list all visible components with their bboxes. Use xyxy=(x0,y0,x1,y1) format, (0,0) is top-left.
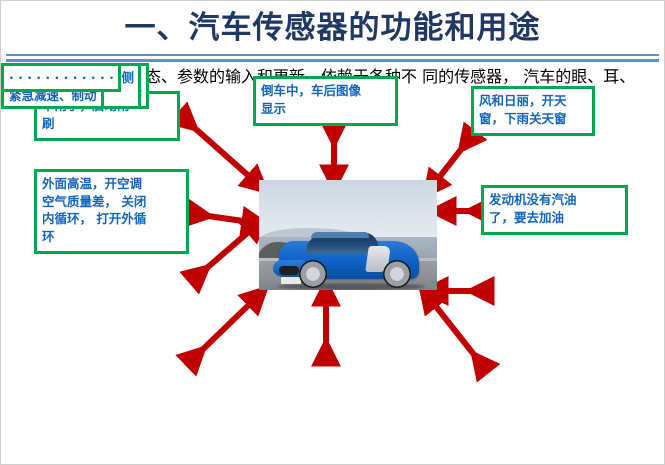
callout-reverse-camera[interactable]: 倒车中，车后图像 显示 xyxy=(253,76,398,126)
callout-fuel-level[interactable]: 发动机没有汽油 了，要去加油 xyxy=(481,185,628,235)
page-title: 一、汽车传感器的功能和用途 xyxy=(1,7,664,49)
arrow-seatbelt xyxy=(201,223,259,273)
callout-air-conditioning[interactable]: 外面高温，开空调 空气质量差， 关闭 内循环， 打开外循 环 xyxy=(34,169,189,254)
arrow-rain xyxy=(189,123,259,185)
callout-line: 倒车中，车后图像 xyxy=(261,82,391,100)
arrow-etc xyxy=(427,295,479,361)
callout-line: 环 xyxy=(42,228,182,246)
slide-title-area: 一、汽车传感器的功能和用途 xyxy=(1,1,664,54)
callout-line: 显示 xyxy=(261,100,391,118)
callout-line: 外面高温，开空调 xyxy=(42,175,182,193)
car-license-plate xyxy=(281,277,301,284)
arrow-brake xyxy=(197,295,259,355)
callout-line: · · · · · · xyxy=(9,70,59,85)
car-photo xyxy=(259,180,437,290)
car-front-wheel xyxy=(299,260,327,288)
arrow-ac xyxy=(201,215,257,223)
callout-sunroof[interactable]: 风和日丽，开天 窗，下雨关天窗 xyxy=(471,86,595,136)
callout-line: 窗，下雨关天窗 xyxy=(479,110,588,128)
title-divider-lower xyxy=(6,59,659,62)
callout-line: · · · · · · xyxy=(64,70,114,85)
callout-line: 风和日丽，开天 xyxy=(479,92,588,110)
callout-line: 刷 xyxy=(42,115,173,133)
car-rear-wheel xyxy=(383,260,411,288)
callout-line: 内循环， 打开外循 xyxy=(42,210,182,228)
callout-etcetera[interactable]: · · · · · · · · · · · · xyxy=(1,63,121,92)
car-grille-left xyxy=(279,266,299,275)
car-roof-highlight xyxy=(311,232,369,238)
callout-line: 发动机没有汽油 xyxy=(489,191,621,209)
slide-canvas: 一、汽车传感器的功能和用途 xyxy=(0,0,665,465)
callout-line: 了，要去加油 xyxy=(489,209,621,227)
diagram-area: 下雨了，启动雨 刷 倒车中，车后图像 显示 风和日丽，开天 窗，下雨关天窗 外面… xyxy=(1,63,664,464)
callout-line: 空气质量差， 关闭 xyxy=(42,193,182,211)
title-divider-upper xyxy=(6,54,659,56)
